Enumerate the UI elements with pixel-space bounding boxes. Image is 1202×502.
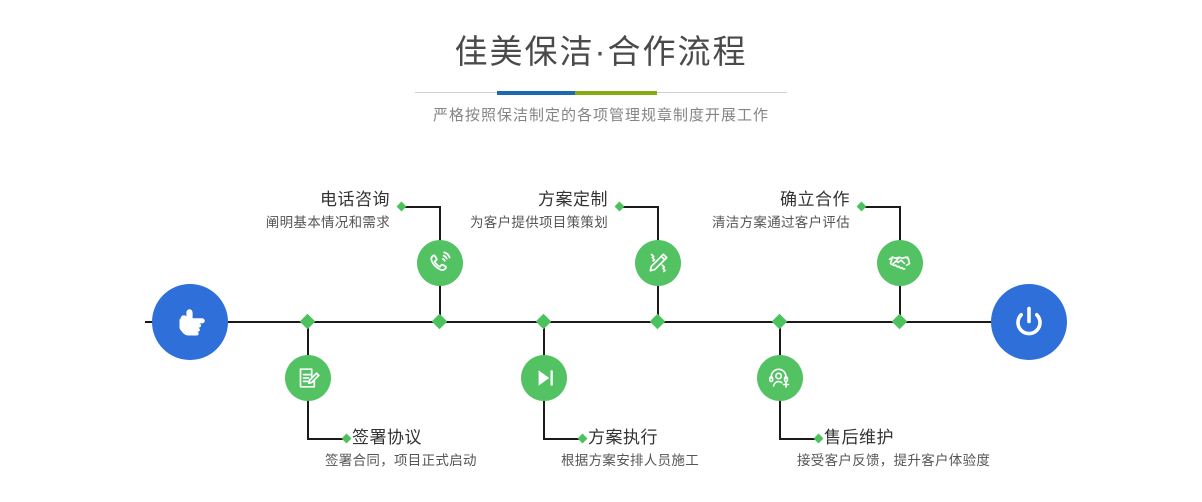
step-node-1[interactable] [417, 240, 463, 286]
step-node-6[interactable] [757, 355, 803, 401]
step-title-6: 售后维护 [824, 427, 894, 449]
timeline-start-node[interactable] [152, 284, 228, 360]
step-desc-4: 根据方案安排人员施工 [561, 451, 699, 471]
label-marker-step-1 [397, 202, 407, 212]
axis-marker-step-2 [300, 314, 316, 330]
customer-support-icon [765, 363, 795, 393]
step-title-4: 方案执行 [588, 427, 658, 449]
timeline-end-node[interactable] [991, 284, 1067, 360]
branch-stub-step-5 [862, 206, 900, 208]
label-marker-step-3 [615, 202, 625, 212]
step-node-2[interactable] [285, 355, 331, 401]
step-node-3[interactable] [635, 240, 681, 286]
step-title-3: 方案定制 [406, 189, 608, 211]
pointing-hand-icon [168, 300, 212, 344]
step-desc-1: 阐明基本情况和需求 [148, 213, 390, 233]
step-desc-5: 清洁方案通过客户评估 [608, 213, 850, 233]
divider-blue-segment [497, 91, 575, 95]
divider-green-segment [575, 91, 657, 95]
phone-call-icon [425, 248, 455, 278]
axis-marker-step-4 [536, 314, 552, 330]
page-title: 佳美保洁·合作流程 [0, 30, 1202, 74]
step-desc-6: 接受客户反馈，提升客户体验度 [797, 451, 990, 471]
flowchart-canvas: 佳美保洁·合作流程 严格按照保洁制定的各项管理规章制度开展工作 [0, 0, 1202, 502]
step-node-5[interactable] [877, 240, 923, 286]
step-title-1: 电话咨询 [188, 189, 390, 211]
axis-marker-step-1 [432, 314, 448, 330]
branch-stub-step-6 [779, 438, 817, 440]
play-next-icon [529, 363, 559, 393]
branch-stub-step-2 [307, 438, 345, 440]
axis-marker-step-3 [650, 314, 666, 330]
axis-marker-step-5 [892, 314, 908, 330]
step-title-5: 确立合作 [648, 189, 850, 211]
branch-stub-step-4 [543, 438, 581, 440]
title-divider [415, 92, 787, 93]
label-marker-step-5 [857, 202, 867, 212]
header: 佳美保洁·合作流程 严格按照保洁制定的各项管理规章制度开展工作 [0, 30, 1202, 127]
step-node-4[interactable] [521, 355, 567, 401]
step-title-2: 签署协议 [352, 427, 422, 449]
pencil-design-icon [643, 248, 673, 278]
axis-marker-step-6 [772, 314, 788, 330]
step-desc-3: 为客户提供项目策策划 [366, 213, 608, 233]
label-marker-step-4 [578, 434, 588, 444]
handshake-icon [885, 248, 915, 278]
label-marker-step-2 [342, 434, 352, 444]
label-marker-step-6 [814, 434, 824, 444]
step-desc-2: 签署合同，项目正式启动 [325, 451, 477, 471]
document-edit-icon [293, 363, 323, 393]
timeline-axis [145, 321, 1055, 323]
power-icon [1007, 300, 1051, 344]
page-subtitle: 严格按照保洁制定的各项管理规章制度开展工作 [0, 105, 1202, 127]
